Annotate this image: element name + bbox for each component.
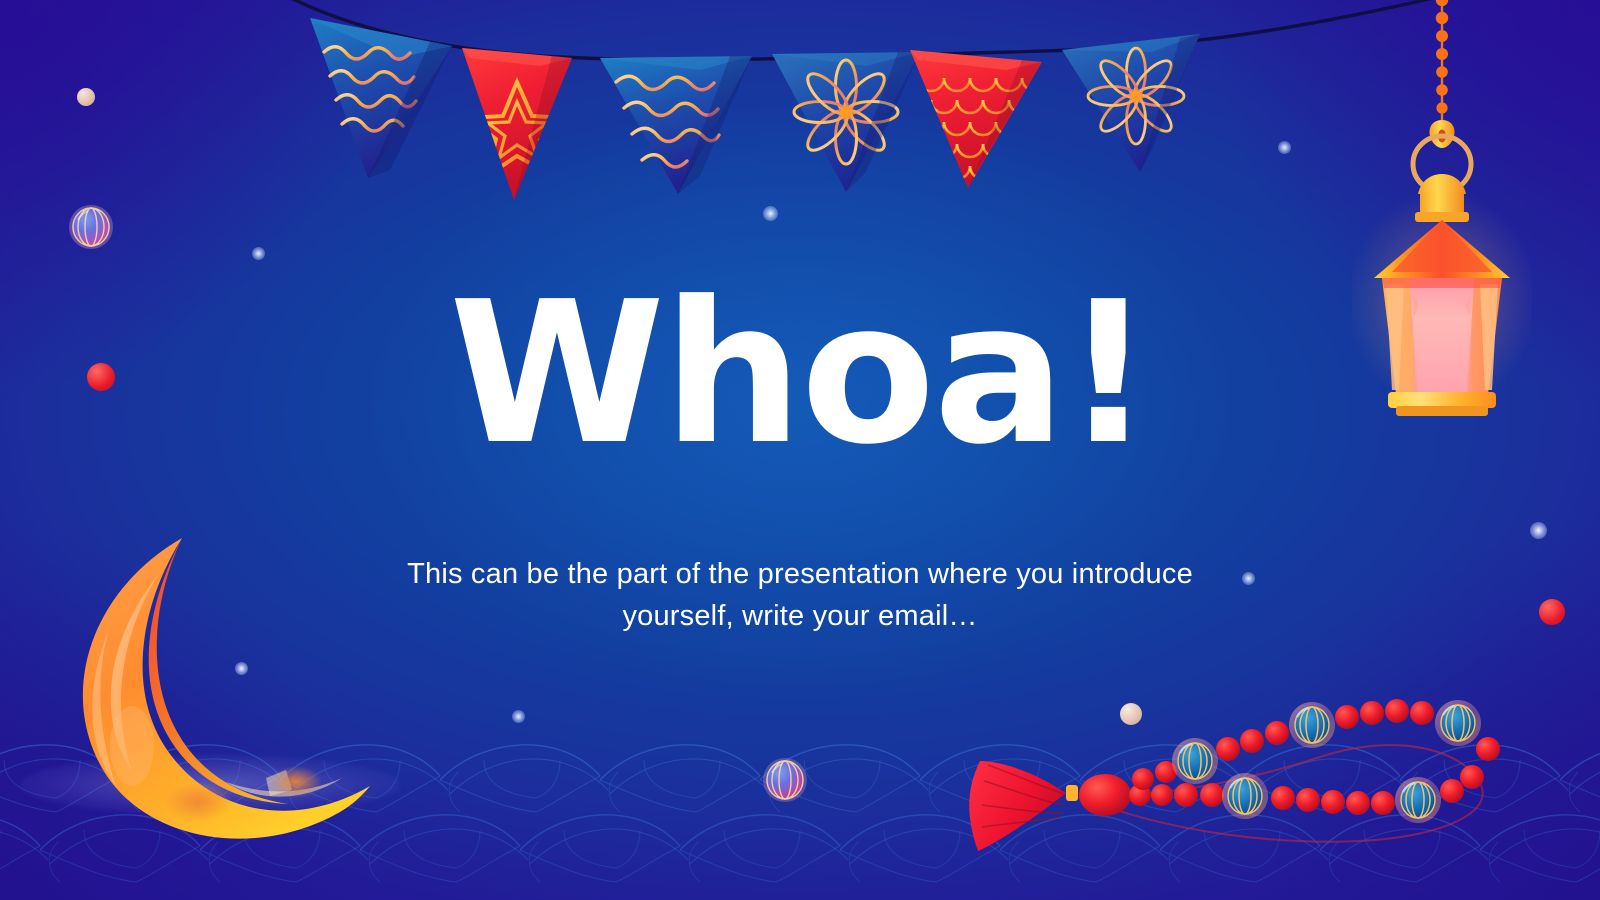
presentation-slide: Whoa! This can be the part of the presen… <box>0 0 1600 900</box>
slide-subtitle: This can be the part of the presentation… <box>400 553 1200 637</box>
slide-content: Whoa! This can be the part of the presen… <box>0 0 1600 900</box>
page-title: Whoa! <box>449 276 1151 472</box>
